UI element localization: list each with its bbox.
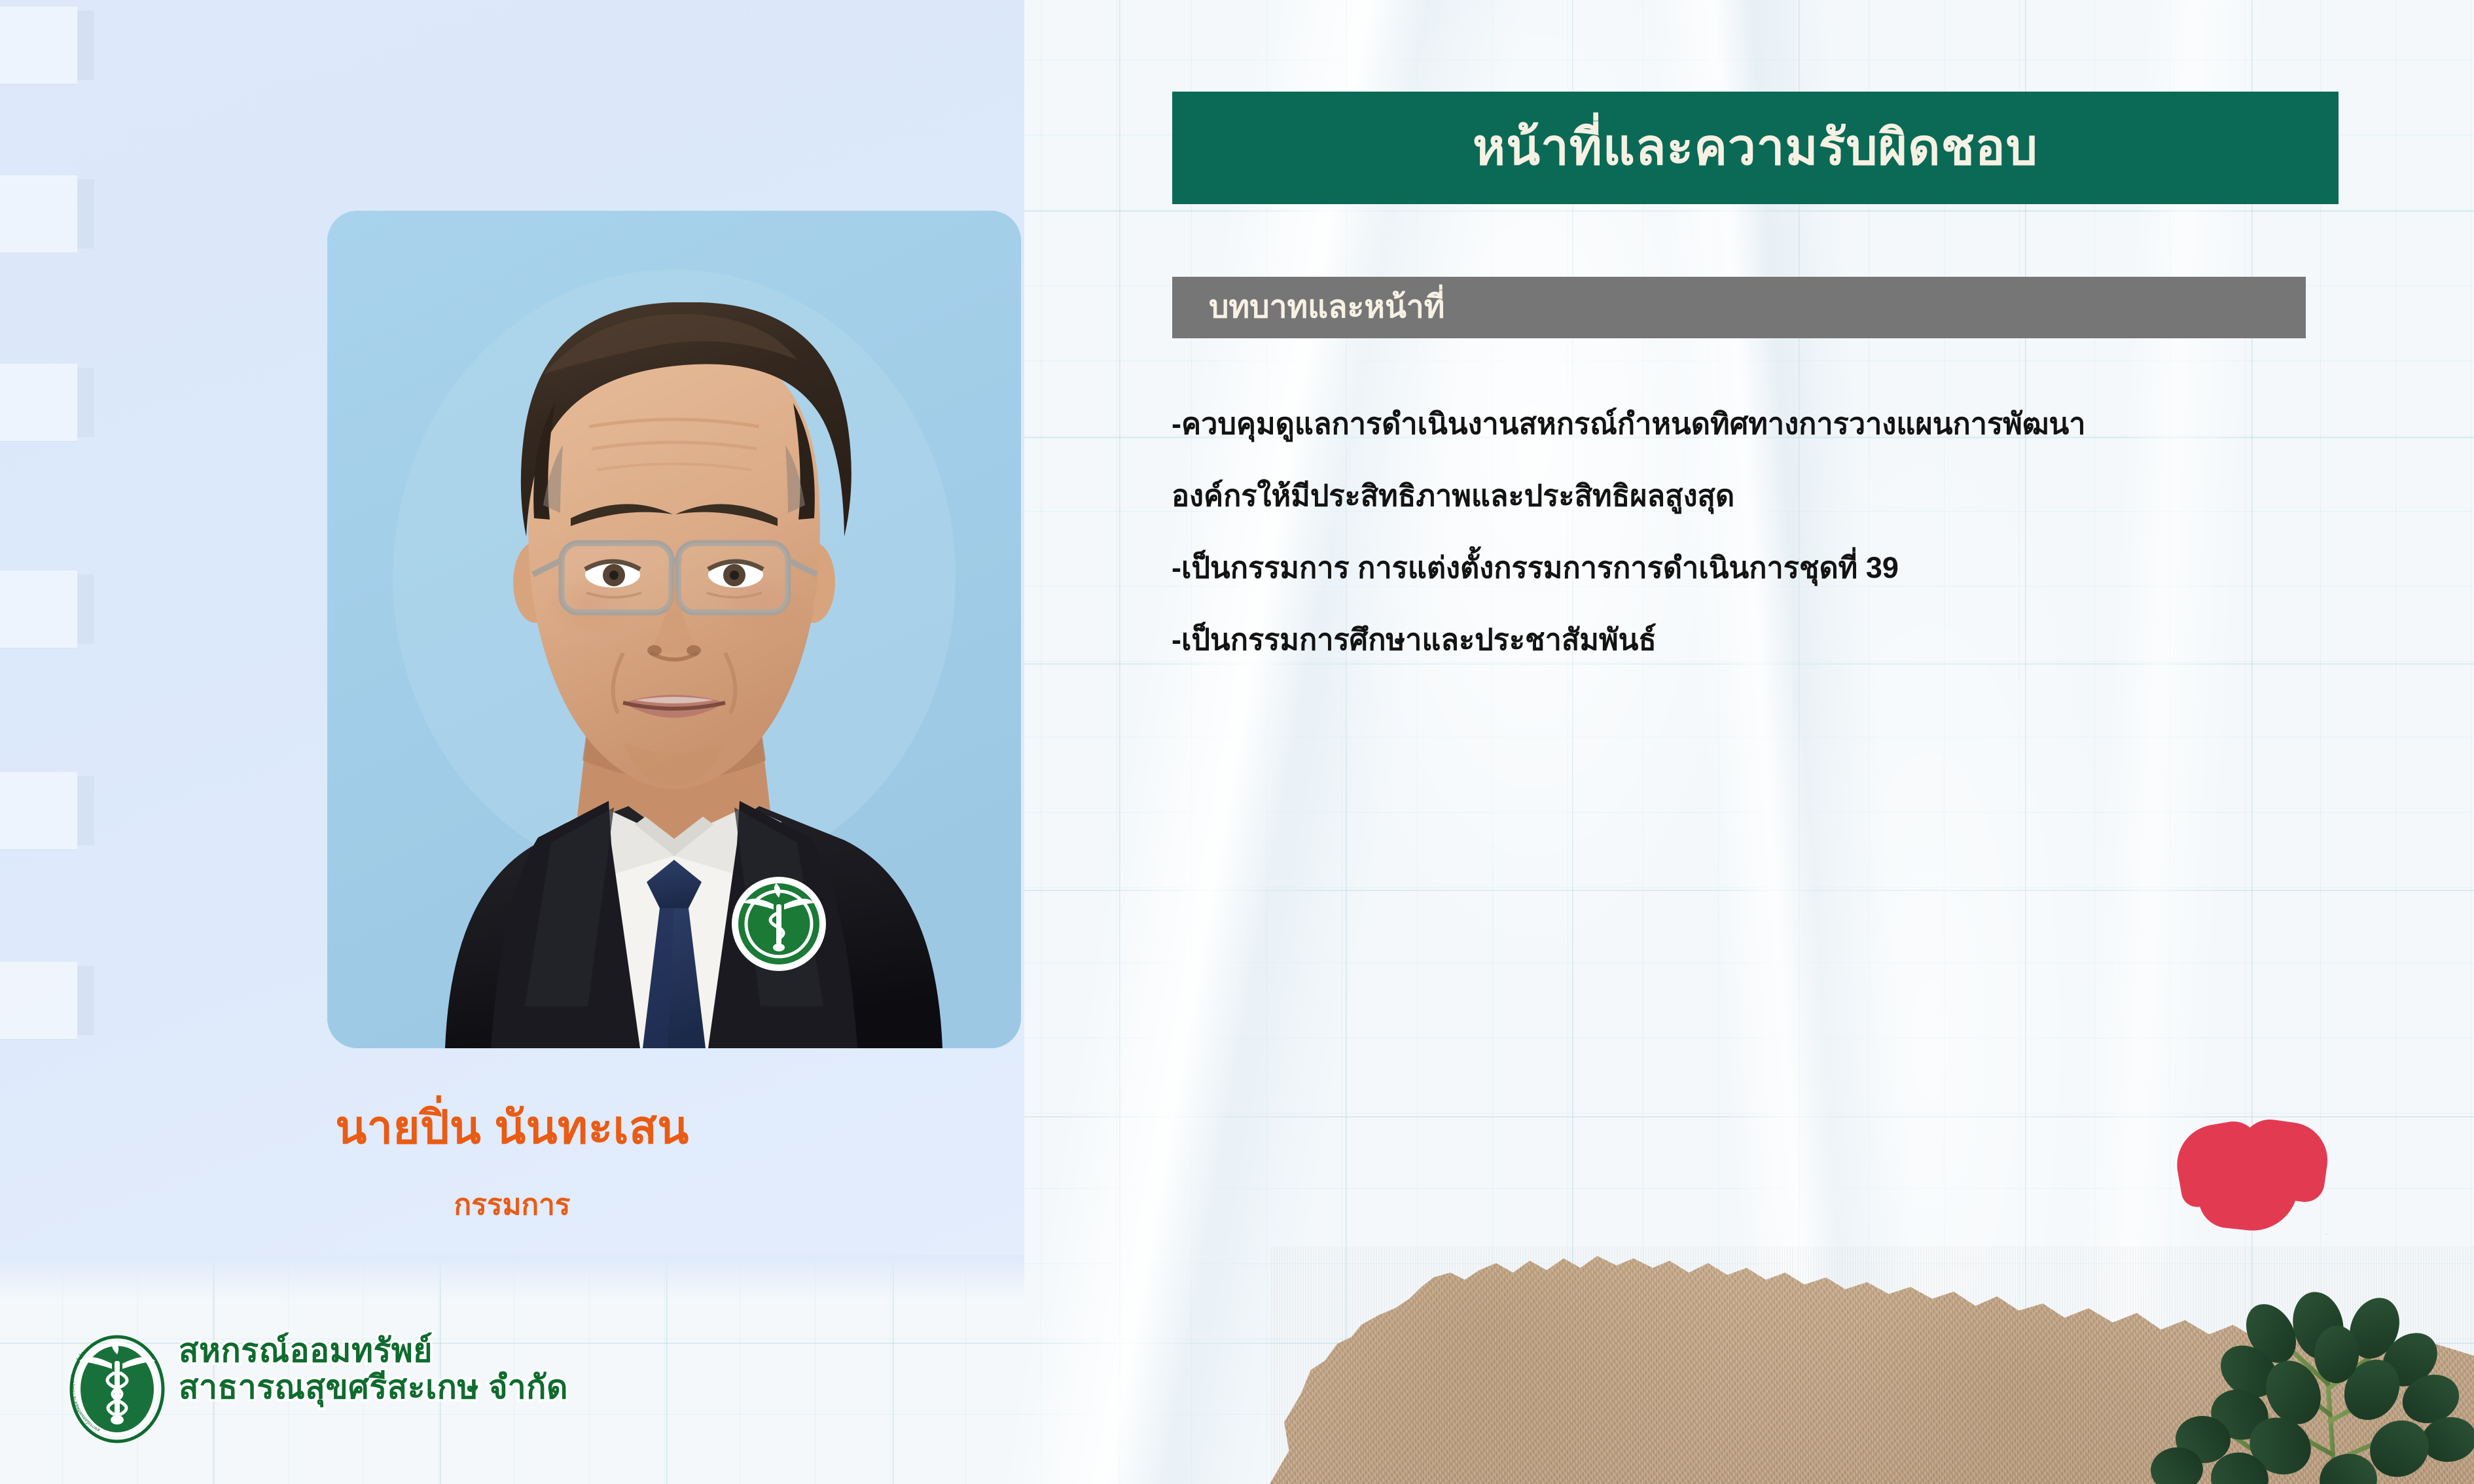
duty-line: -เป็นกรรมการ การแต่งตั้งกรรมการการดำเนิน…	[1172, 553, 1899, 582]
section-subtitle: บทบาทและหน้าที่	[1209, 292, 1444, 323]
page-title-bar: หน้าที่และความรับผิดชอบ	[1172, 92, 2339, 204]
duty-line: -เป็นกรรมการศึกษาและประชาสัมพันธ์	[1172, 625, 1657, 654]
page-title: หน้าที่และความรับผิดชอบ	[1473, 123, 2038, 173]
lapel-badge-icon	[732, 877, 826, 971]
person-role: กรรมการ	[0, 1191, 1024, 1220]
cooperative-seal-icon: สหกรณ์ออมทรัพย์สาธารณสุขศรีสะเกษ จำกัด	[69, 1335, 166, 1443]
cooperative-logo: สหกรณ์ออมทรัพย์สาธารณสุขศรีสะเกษ จำกัด ส…	[69, 1332, 632, 1447]
notebook-tab	[0, 7, 77, 84]
notebook-tab	[0, 772, 77, 850]
notebook-tab	[0, 364, 77, 442]
slide-root: นายปิ่น นันทะเสน กรรมการ หน้าที่และความร…	[0, 0, 2474, 1484]
notebook-tab	[0, 571, 77, 648]
heart-base	[2196, 1153, 2301, 1235]
duty-line: องค์กรให้มีประสิทธิภาพและประสิทธิผลสูงสุ…	[1172, 481, 1734, 510]
torn-paper-heart-icon	[2177, 1120, 2327, 1235]
person-name: นายปิ่น นันทะเสน	[0, 1104, 1024, 1150]
logo-line-1: สหกรณ์ออมทรัพย์	[179, 1332, 568, 1369]
portrait-photo	[327, 211, 1021, 1048]
notebook-tab	[0, 962, 77, 1040]
green-leaf-sprig-icon	[2140, 1243, 2474, 1484]
logo-text-block: สหกรณ์ออมทรัพย์ สาธารณสุขศรีสะเกษ จำกัด	[179, 1332, 568, 1405]
portrait-illustration	[327, 211, 1021, 1048]
notebook-tab	[0, 175, 77, 253]
logo-line-2: สาธารณสุขศรีสะเกษ จำกัด	[179, 1369, 568, 1405]
section-subtitle-bar: บทบาทและหน้าที่	[1172, 277, 2306, 338]
duty-line: -ควบคุมดูแลการดำเนินงานสหกรณ์กำหนดทิศทาง…	[1172, 409, 2086, 438]
